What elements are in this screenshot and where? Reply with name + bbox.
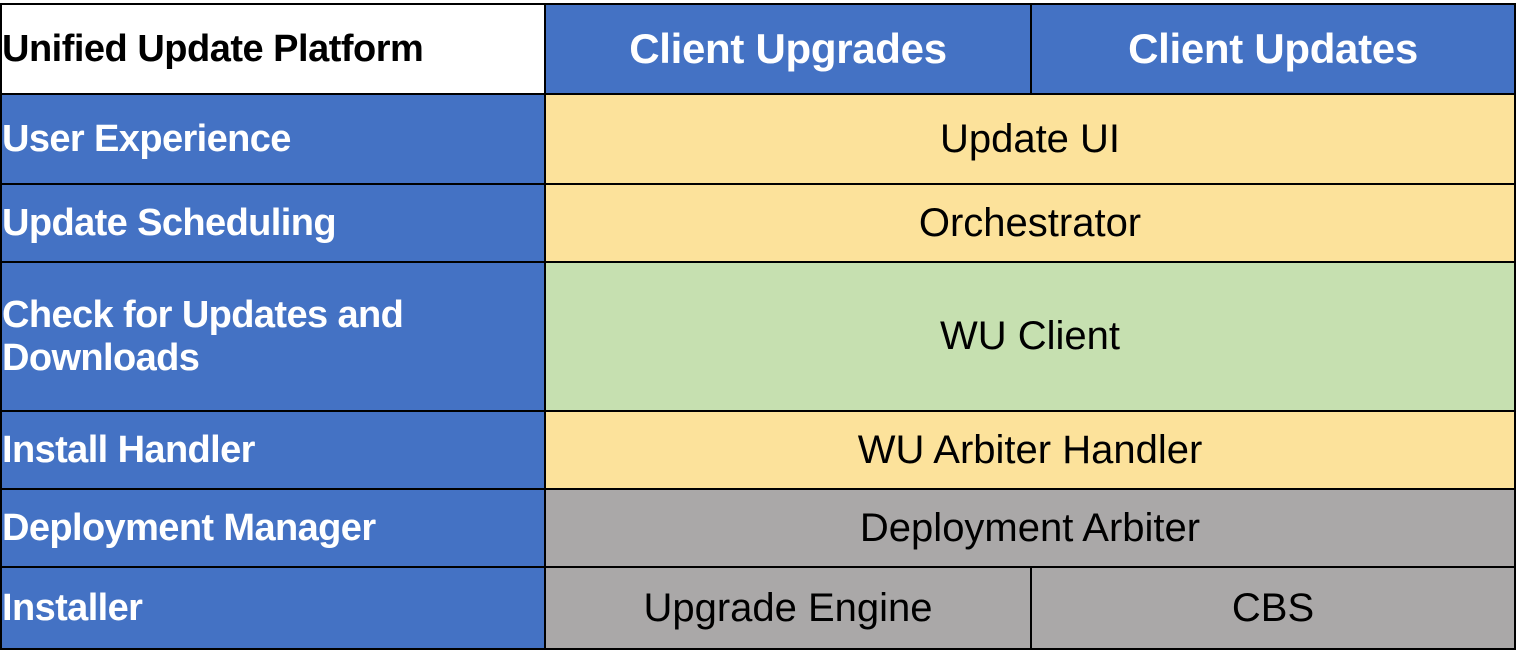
row-label-check-for-updates-and-downloads: Check for Updates and Downloads [1,262,545,411]
architecture-matrix: Unified Update Platform Client Upgrades … [0,3,1516,650]
row-label-user-experience: User Experience [1,94,545,184]
row-label-deployment-manager: Deployment Manager [1,489,545,567]
table-header-row: Unified Update Platform Client Upgrades … [1,4,1515,94]
table-row: Install Handler WU Arbiter Handler [1,411,1515,489]
cell-orchestrator: Orchestrator [545,184,1515,262]
corner-title-cell: Unified Update Platform [1,4,545,94]
row-label-installer: Installer [1,567,545,649]
cell-cbs: CBS [1031,567,1515,649]
table-row: User Experience Update UI [1,94,1515,184]
table-row: Check for Updates and Downloads WU Clien… [1,262,1515,411]
table-row: Deployment Manager Deployment Arbiter [1,489,1515,567]
row-label-install-handler: Install Handler [1,411,545,489]
cell-deployment-arbiter: Deployment Arbiter [545,489,1515,567]
table-row: Update Scheduling Orchestrator [1,184,1515,262]
unified-update-platform-table: Unified Update Platform Client Upgrades … [0,0,1522,656]
cell-wu-client: WU Client [545,262,1515,411]
table-row: Installer Upgrade Engine CBS [1,567,1515,649]
cell-upgrade-engine: Upgrade Engine [545,567,1031,649]
row-label-update-scheduling: Update Scheduling [1,184,545,262]
cell-update-ui: Update UI [545,94,1515,184]
column-header-client-upgrades: Client Upgrades [545,4,1031,94]
column-header-client-updates: Client Updates [1031,4,1515,94]
cell-wu-arbiter-handler: WU Arbiter Handler [545,411,1515,489]
